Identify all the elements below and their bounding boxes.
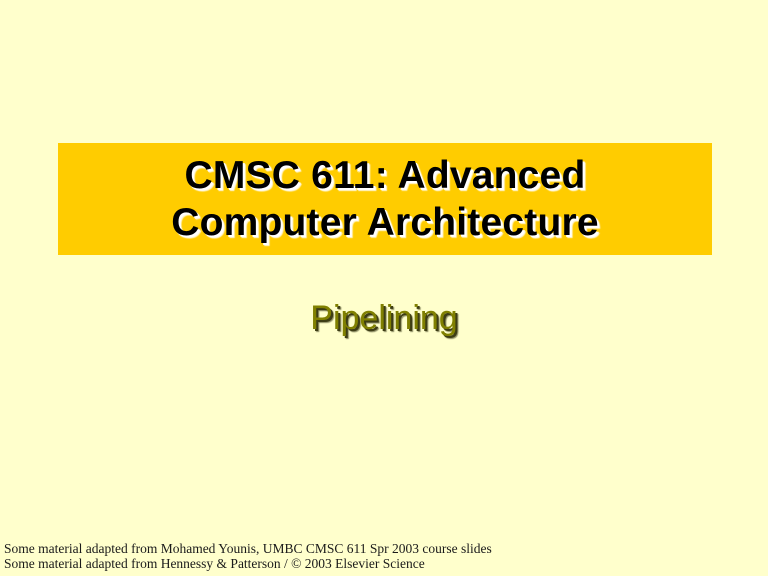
slide-subtitle-text: Pipelining [310,299,457,337]
slide-subtitle: Pipelining [0,298,768,338]
presentation-slide: CMSC 611: Advanced Computer Architecture… [0,0,768,576]
footer-credit-line-2: Some material adapted from Hennessy & Pa… [4,556,744,571]
title-banner: CMSC 611: Advanced Computer Architecture [58,143,712,255]
slide-title-line-2: Computer Architecture [171,199,599,246]
slide-footer-credits: Some material adapted from Mohamed Youni… [4,541,744,571]
slide-title-line-1: CMSC 611: Advanced [185,152,586,199]
footer-credit-line-1: Some material adapted from Mohamed Youni… [4,541,744,556]
